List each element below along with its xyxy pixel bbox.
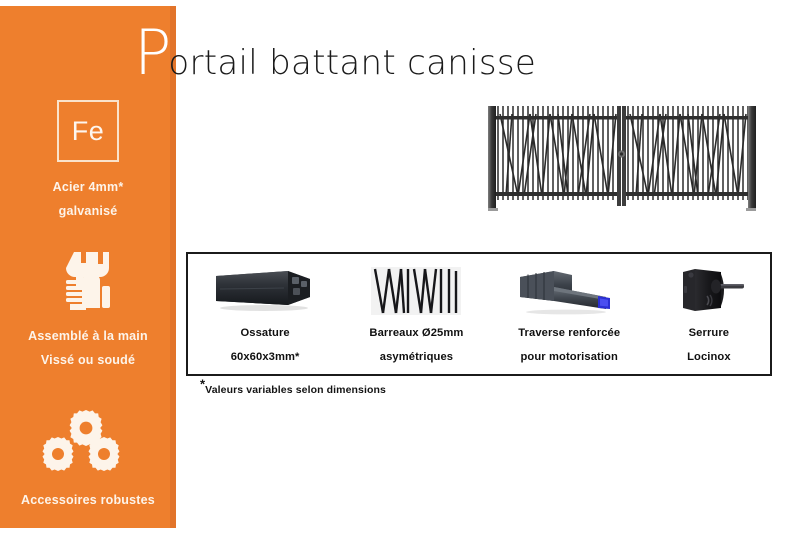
hand-holding-wrench-icon <box>0 250 176 312</box>
feature-caption-bars-1: Barreaux Ø25mm <box>369 324 463 344</box>
feature-caption-crossbeam-1: Traverse renforcée <box>518 324 620 344</box>
sidebar-item-steel: Fe Acier 4mm* galvanisé <box>0 100 176 224</box>
footnote-text: Valeurs variables selon dimensions <box>205 384 386 396</box>
sidebar-item-steel-label-2: galvanisé <box>0 200 176 224</box>
feature-item-frame: Ossature 60x60x3mm* <box>188 254 342 374</box>
feature-caption-lock-1: Serrure <box>689 324 730 344</box>
fe-badge-label: Fe <box>72 118 105 145</box>
page-title-rest: ortail battant canisse <box>168 46 536 80</box>
sidebar-item-assembly-label-2: Vissé ou soudé <box>0 349 176 373</box>
asymmetric-bars-photo <box>371 262 461 320</box>
feature-caption-frame-1: Ossature <box>240 324 289 344</box>
features-box: Ossature 60x60x3mm* <box>186 252 772 376</box>
footnote: *Valeurs variables selon dimensions <box>200 384 386 396</box>
sidebar-item-accessories: Accessoires robustes <box>0 410 176 513</box>
feature-item-lock: Serrure Locinox <box>648 254 770 374</box>
reinforced-crossbeam-photo <box>514 262 624 320</box>
feature-caption-bars-2: asymétriques <box>380 348 453 368</box>
locinox-lock-photo <box>669 262 749 320</box>
product-sheet-page: Fe Acier 4mm* galvanisé <box>0 0 800 534</box>
sidebar-item-assembly: Assemblé à la main Vissé ou soudé <box>0 250 176 373</box>
square-tube-frame-photo <box>214 262 316 320</box>
feature-caption-lock-2: Locinox <box>687 348 731 368</box>
page-title-initial: P <box>134 22 170 84</box>
sidebar-item-steel-label-1: Acier 4mm* <box>0 176 176 200</box>
feature-item-bars: Barreaux Ø25mm asymétriques <box>342 254 490 374</box>
feature-caption-frame-2: 60x60x3mm* <box>231 348 300 368</box>
feature-item-crossbeam: Traverse renforcée pour motorisation <box>491 254 648 374</box>
double-swing-gate-drawing <box>472 96 784 220</box>
sidebar-item-accessories-label-1: Accessoires robustes <box>0 489 176 513</box>
gears-icon <box>0 410 176 478</box>
page-title: P ortail battant canisse <box>134 22 536 84</box>
feature-caption-crossbeam-2: pour motorisation <box>521 348 618 368</box>
sidebar-item-assembly-label-1: Assemblé à la main <box>0 325 176 349</box>
fe-element-box-icon: Fe <box>57 100 119 162</box>
